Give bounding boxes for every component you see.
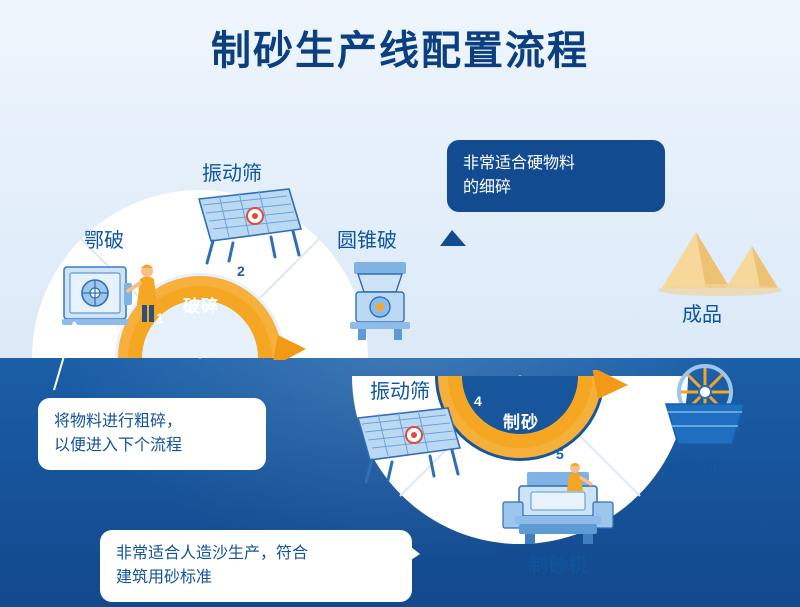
step-number-5: 5 [556,446,564,462]
callout-cone-crusher-line-2: 的细碎 [463,176,649,200]
label-vibrating-screen-bottom: 振动筛 [370,375,430,404]
label-jaw-crusher: 鄂破 [84,224,124,253]
step-number-3: 3 [318,313,326,329]
label-product: 成品 [682,298,722,327]
vibrating-screen-icon-top [193,185,309,272]
step-number-6: 6 [636,393,644,409]
callout-sand-maker: 非常适合人造沙生产，符合 建筑用砂标准 [100,530,412,602]
sand-washer-icon [650,360,760,455]
vibrating-screen-icon-bottom [352,404,472,491]
callout-jaw-crusher-line-1: 将物料进行粗碎， [54,410,250,434]
callout-jaw-crusher-leader [40,318,120,404]
label-cone-crusher: 圆锥破 [337,224,397,253]
callout-cone-crusher: 非常适合硬物料 的细碎 [447,140,665,212]
sand-making-machine-icon [497,462,623,551]
callout-cone-crusher-pointer [400,220,480,280]
label-sand-washer: 洗砂机 [662,456,722,485]
crushing-arc-label: 破碎 [183,292,219,317]
label-vibrating-screen-top: 振动筛 [202,157,262,186]
callout-sand-maker-line-2: 建筑用砂标准 [116,566,396,590]
sand-pile-icon [648,218,788,303]
step-number-4: 4 [474,393,482,409]
page-title: 制砂生产线配置流程 [0,18,800,76]
sand-making-arc-label: 制砂 [503,408,539,433]
infographic-stage: 制砂生产线配置流程 1 2 3 破碎 鄂破 振动筛 圆锥破 [0,0,800,607]
label-sand-making-machine: 制砂机 [528,549,588,578]
callout-jaw-crusher: 将物料进行粗碎， 以便进入下个流程 [38,398,266,470]
callout-jaw-crusher-line-2: 以便进入下个流程 [54,434,250,458]
callout-sand-maker-line-1: 非常适合人造沙生产，符合 [116,542,396,566]
callout-cone-crusher-line-1: 非常适合硬物料 [463,152,649,176]
